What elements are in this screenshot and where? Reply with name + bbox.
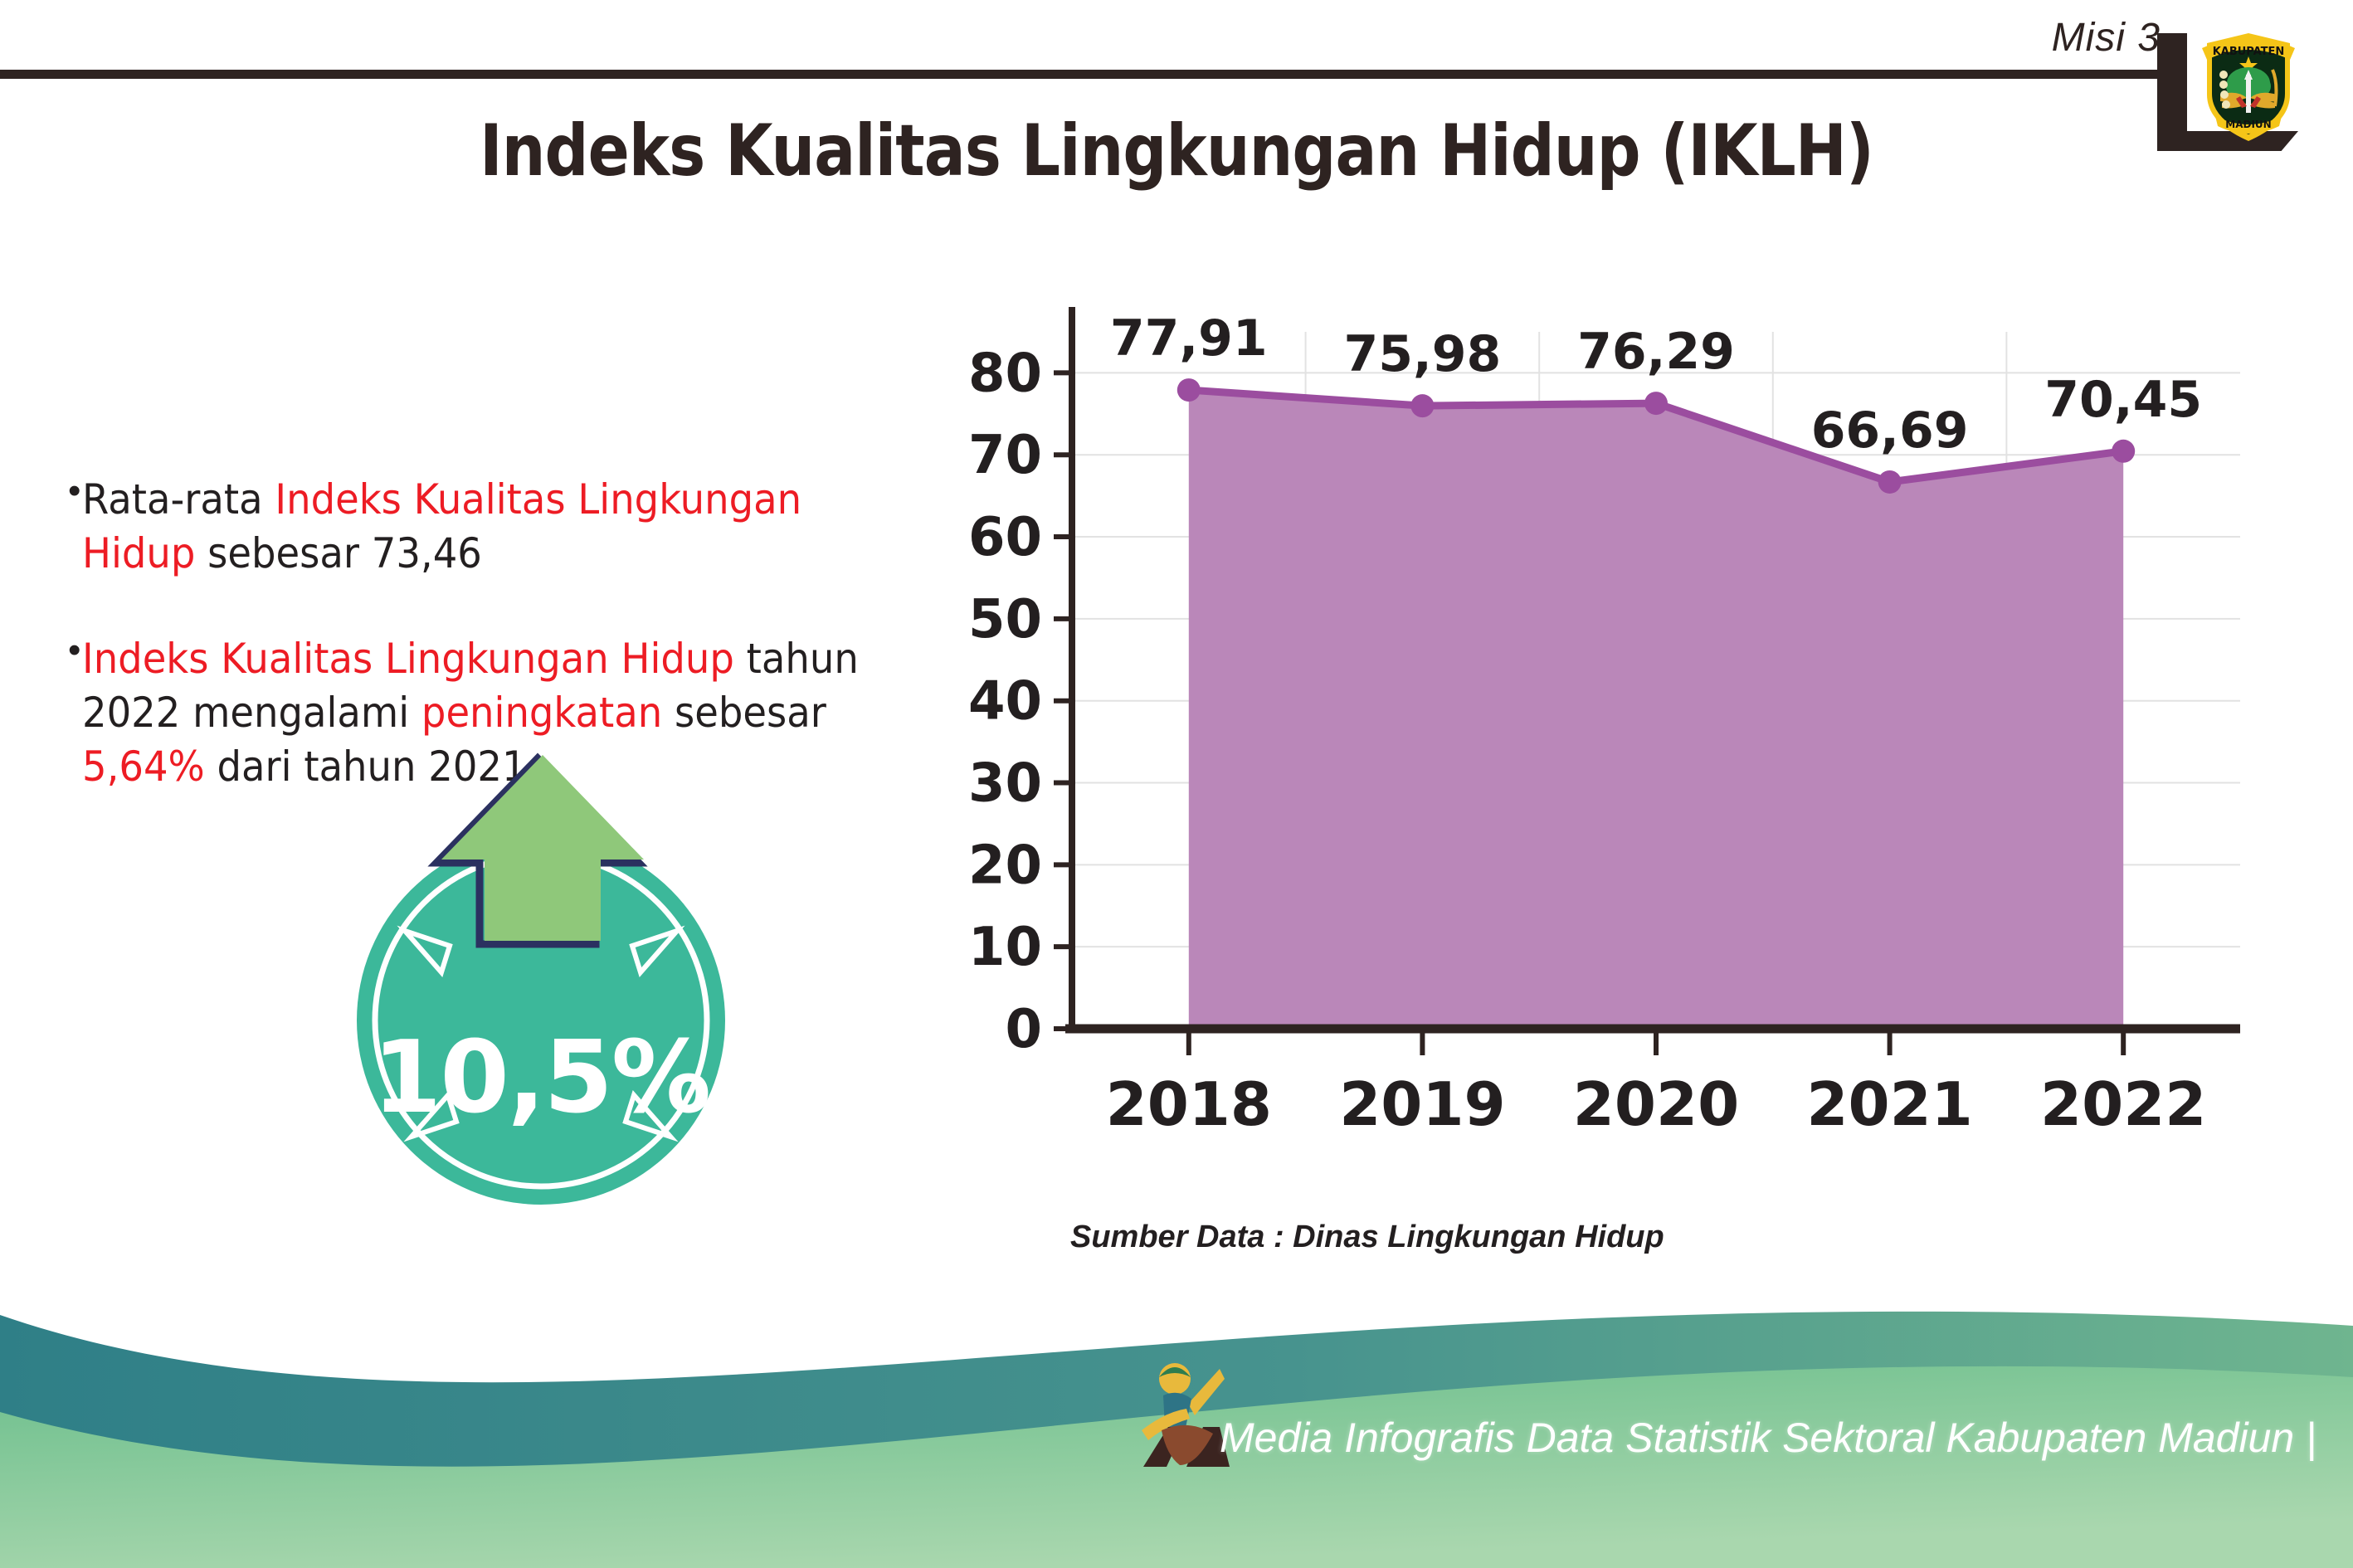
chart-x-tick-label: 2020 — [1573, 1069, 1739, 1139]
bullet-highlight-text: Indeks Kualitas Lingkungan Hidup — [82, 635, 734, 683]
footer-caption: Media Infografis Data Statistik Sektoral… — [1220, 1414, 2316, 1462]
chart-y-tick-label: 30 — [968, 753, 1042, 815]
header-divider-rule — [0, 70, 2164, 79]
chart-value-label: 66,69 — [1811, 402, 1969, 460]
chart-y-tick-label: 70 — [968, 425, 1042, 486]
chart-x-tick-label: 2019 — [1339, 1069, 1505, 1139]
page-title: Indeks Kualitas Lingkungan Hidup (IKLH) — [165, 110, 2189, 192]
bullet-plain-text: sebesar — [663, 689, 827, 737]
bullet-highlight-text: 5,64% — [82, 743, 205, 791]
chart-y-tick-label: 80 — [968, 343, 1042, 404]
kabupaten-madiun-emblem: KABUPATEN MADIUN — [2190, 15, 2307, 148]
chart-x-tick-label: 2018 — [1106, 1069, 1272, 1139]
chart-y-tick-label: 50 — [968, 589, 1042, 650]
chart-x-tick-label: 2022 — [2040, 1069, 2206, 1139]
bullet-dot-icon: • — [68, 473, 80, 510]
chart-x-tick-label: 2021 — [1806, 1069, 1972, 1139]
chart-area-fill — [1189, 390, 2123, 1029]
chart-marker — [2112, 440, 2135, 463]
chart-marker — [1177, 378, 1201, 402]
growth-badge-value: 10,5% — [325, 1020, 757, 1136]
chart-y-tick-label: 40 — [968, 671, 1042, 733]
chart-y-tick-label: 0 — [1005, 999, 1042, 1060]
chart-value-label: 70,45 — [2044, 371, 2202, 429]
list-item: • Rata-rata Indeks Kualitas Lingkungan H… — [68, 473, 948, 581]
bullet-text: Rata-rata Indeks Kualitas Lingkungan Hid… — [82, 473, 887, 581]
chart-value-label: 76,29 — [1577, 323, 1735, 381]
chart-y-tick-label: 60 — [968, 507, 1042, 568]
chart-value-label: 77,91 — [1110, 309, 1268, 368]
emblem-top-banner-text: KABUPATEN — [2213, 46, 2285, 58]
infographic-slide: Misi 3 KABUPATEN MADIUN — [0, 0, 2353, 1568]
growth-badge-graphic — [325, 747, 757, 1211]
chart-marker — [1410, 394, 1434, 417]
bullet-dot-icon: • — [68, 632, 80, 670]
mission-label: Misi 3 — [2052, 15, 2161, 61]
bullet-plain-text: sebesar 73,46 — [196, 529, 482, 577]
chart-y-tick-label: 10 — [968, 917, 1042, 978]
bullet-highlight-text: peningkatan — [421, 689, 662, 737]
chart-y-tick-label: 20 — [968, 835, 1042, 896]
iklh-area-chart: 77,9175,9876,2966,6970,45010203040506070… — [962, 282, 2290, 1220]
chart-value-label: 75,98 — [1344, 325, 1502, 383]
bullet-plain-text: Rata-rata — [82, 475, 275, 523]
chart-marker — [1644, 392, 1668, 415]
emblem-bottom-banner-text: MADIUN — [2225, 119, 2271, 130]
chart-marker — [1878, 470, 1902, 494]
growth-badge: 10,5% — [325, 747, 757, 1211]
